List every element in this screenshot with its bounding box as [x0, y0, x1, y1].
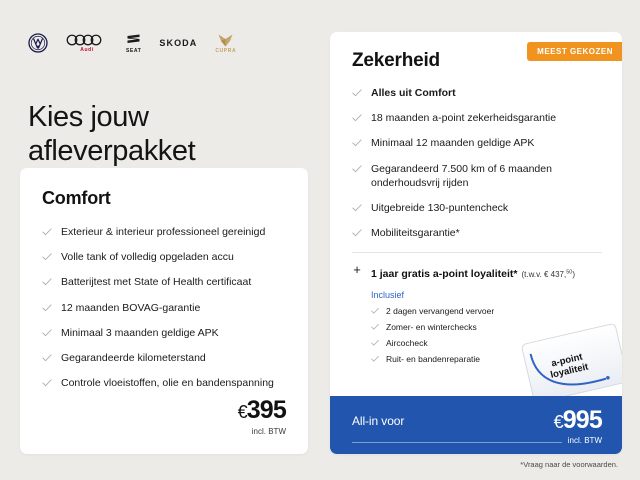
- bonus-value: (t.w.v. € 437,50): [521, 270, 575, 279]
- skoda-logo-icon: SKODA: [159, 39, 197, 48]
- delivery-package-page: Audi SEAT SKODA CUPRA Kies jouw afleverp…: [0, 0, 640, 480]
- list-item: 18 maanden a-point zekerheidsgarantie: [352, 111, 602, 125]
- seat-wordmark: SEAT: [126, 49, 141, 54]
- comfort-price: €395: [238, 398, 286, 423]
- bonus-label: 1 jaar gratis a-point loyaliteit*: [371, 268, 517, 280]
- list-item: Batterijtest met State of Health certifi…: [42, 275, 286, 289]
- check-icon: [42, 328, 52, 338]
- list-item: Gegarandeerd 7.500 km of 6 maanden onder…: [352, 162, 602, 190]
- seat-logo-icon: SEAT: [126, 33, 141, 54]
- zekerheid-feature-text: Minimaal 12 maanden geldige APK: [371, 136, 602, 150]
- list-item: Controle vloeistoffen, olie en bandenspa…: [42, 376, 286, 390]
- bonus-value-prefix: (t.w.v. € 437,: [521, 270, 566, 279]
- brand-logo-strip: Audi SEAT SKODA CUPRA: [28, 30, 236, 56]
- inclusief-item-text: Aircocheck: [386, 338, 428, 349]
- plus-icon: +: [352, 264, 362, 275]
- cupra-wordmark: CUPRA: [215, 49, 236, 54]
- check-icon: [42, 252, 52, 262]
- check-icon: [352, 138, 362, 148]
- footnote: *Vraag naar de voorwaarden.: [520, 460, 618, 469]
- allin-price: €995: [554, 408, 602, 433]
- list-item: Alles uit Comfort: [352, 86, 602, 100]
- bonus-value-suffix: ): [572, 270, 575, 279]
- comfort-price-vat: incl. BTW: [238, 427, 286, 436]
- list-item: 12 maanden BOVAG-garantie: [42, 301, 286, 315]
- allin-price-bar: All-in voor €995 incl. BTW: [330, 396, 622, 454]
- inclusief-title: Inclusief: [371, 290, 602, 300]
- list-item: Minimaal 3 maanden geldige APK: [42, 326, 286, 340]
- currency-symbol: €: [554, 412, 563, 432]
- divider: [352, 442, 562, 443]
- divider: [352, 252, 602, 253]
- check-icon: [371, 339, 379, 347]
- comfort-feature-text: Volle tank of volledig opgeladen accu: [61, 250, 286, 264]
- check-icon: [352, 203, 362, 213]
- zekerheid-feature-text: 18 maanden a-point zekerheidsgarantie: [371, 111, 602, 125]
- cupra-logo-icon: CUPRA: [215, 33, 236, 54]
- zekerheid-feature-text: Gegarandeerd 7.500 km of 6 maanden onder…: [371, 162, 602, 190]
- comfort-price-block: €395 incl. BTW: [238, 398, 286, 436]
- skoda-wordmark: SKODA: [159, 39, 197, 48]
- audi-logo-icon: Audi: [66, 33, 108, 53]
- allin-price-block: €995 incl. BTW: [554, 408, 602, 445]
- package-card-zekerheid[interactable]: MEEST GEKOZEN Zekerheid Alles uit Comfor…: [330, 32, 622, 454]
- check-icon: [352, 113, 362, 123]
- check-icon: [42, 227, 52, 237]
- allin-price-amount: 995: [563, 406, 602, 434]
- comfort-feature-text: Exterieur & interieur professioneel gere…: [61, 225, 286, 239]
- zekerheid-feature-text: Uitgebreide 130-puntencheck: [371, 201, 602, 215]
- check-icon: [371, 323, 379, 331]
- check-icon: [352, 88, 362, 98]
- list-item: Exterieur & interieur professioneel gere…: [42, 225, 286, 239]
- check-icon: [371, 307, 379, 315]
- check-icon: [352, 164, 362, 174]
- list-item: Uitgebreide 130-puntencheck: [352, 201, 602, 215]
- comfort-feature-text: Controle vloeistoffen, olie en bandenspa…: [61, 376, 286, 390]
- comfort-feature-list: Exterieur & interieur professioneel gere…: [42, 225, 286, 390]
- volkswagen-logo-icon: [28, 33, 48, 53]
- check-icon: [42, 353, 52, 363]
- check-icon: [42, 277, 52, 287]
- inclusief-item-text: Zomer- en winterchecks: [386, 322, 477, 333]
- status-badge: MEEST GEKOZEN: [527, 42, 622, 61]
- list-item: 2 dagen vervangend vervoer: [371, 306, 602, 317]
- list-item: Minimaal 12 maanden geldige APK: [352, 136, 602, 150]
- comfort-title: Comfort: [42, 188, 286, 209]
- check-icon: [371, 355, 379, 363]
- comfort-price-amount: 395: [247, 396, 286, 424]
- inclusief-item-text: Ruit- en bandenreparatie: [386, 354, 480, 365]
- currency-symbol: €: [238, 402, 247, 422]
- zekerheid-feature-text: Alles uit Comfort: [371, 86, 602, 100]
- inclusief-item-text: 2 dagen vervangend vervoer: [386, 306, 494, 317]
- check-icon: [42, 378, 52, 388]
- list-item: Gegarandeerde kilometerstand: [42, 351, 286, 365]
- list-item: Mobiliteitsgarantie*: [352, 226, 602, 240]
- comfort-feature-text: 12 maanden BOVAG-garantie: [61, 301, 286, 315]
- zekerheid-feature-list: Alles uit Comfort 18 maanden a-point zek…: [352, 86, 602, 240]
- list-item: Volle tank of volledig opgeladen accu: [42, 250, 286, 264]
- audi-wordmark: Audi: [80, 48, 94, 53]
- page-title: Kies jouw afleverpakket: [28, 101, 195, 169]
- zekerheid-feature-text: Mobiliteitsgarantie*: [371, 226, 602, 240]
- comfort-feature-text: Batterijtest met State of Health certifi…: [61, 275, 286, 289]
- package-card-comfort[interactable]: Comfort Exterieur & interieur profession…: [20, 168, 308, 454]
- allin-label: All-in voor: [352, 408, 404, 428]
- check-icon: [352, 228, 362, 238]
- check-icon: [42, 303, 52, 313]
- allin-price-vat: incl. BTW: [554, 436, 602, 445]
- bonus-row: + 1 jaar gratis a-point loyaliteit*(t.w.…: [352, 264, 602, 282]
- comfort-feature-text: Gegarandeerde kilometerstand: [61, 351, 286, 365]
- comfort-feature-text: Minimaal 3 maanden geldige APK: [61, 326, 286, 340]
- zekerheid-content: Zekerheid Alles uit Comfort 18 maanden a…: [330, 32, 622, 365]
